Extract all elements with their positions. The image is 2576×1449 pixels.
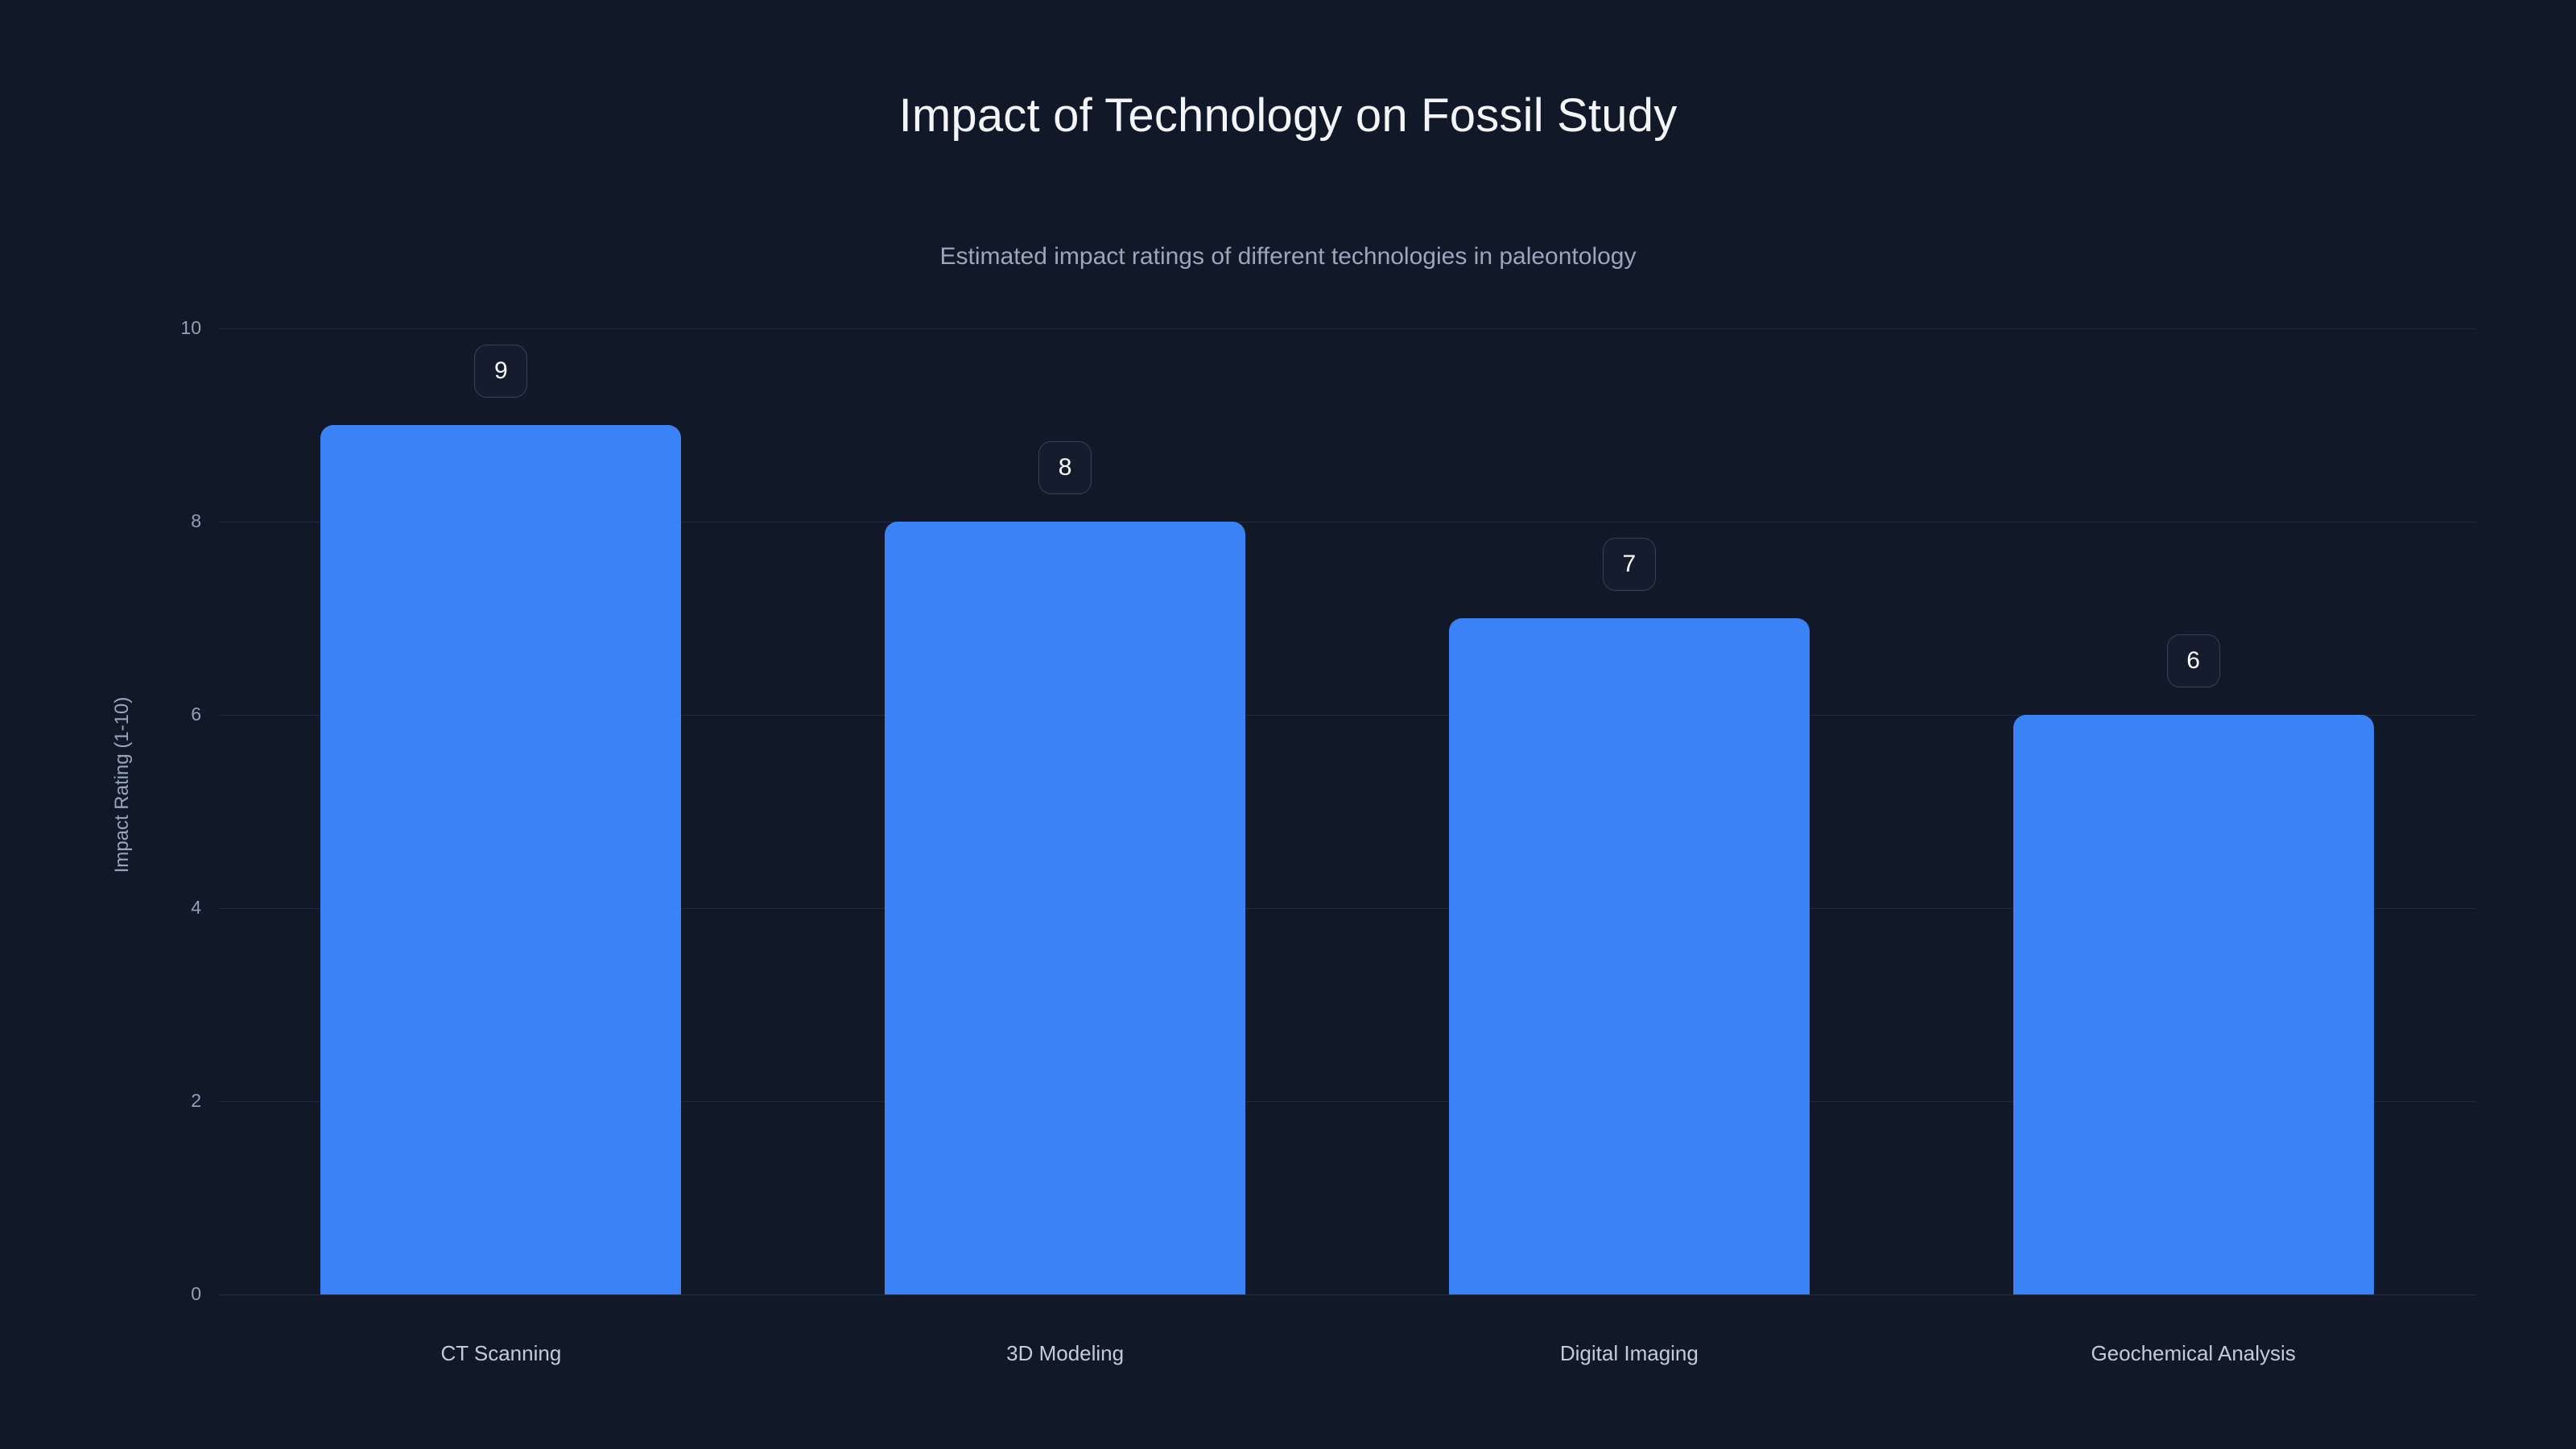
- x-axis-tick-label: Geochemical Analysis: [2091, 1341, 2295, 1366]
- y-axis-tick-label: 4: [153, 897, 201, 919]
- x-axis-tick-label: Digital Imaging: [1560, 1341, 1699, 1366]
- bar-ct-scanning[interactable]: [320, 425, 681, 1294]
- gridline: [219, 328, 2475, 329]
- y-axis-tick-label: 10: [153, 317, 201, 339]
- x-axis-line: [219, 1294, 2475, 1295]
- plot-area: [219, 328, 2475, 1294]
- bar-value-label: 8: [1038, 441, 1092, 494]
- y-axis-tick-label: 8: [153, 510, 201, 532]
- bar-value-label: 9: [474, 345, 527, 398]
- bar-3d-modeling[interactable]: [885, 522, 1245, 1294]
- y-axis-tick-label: 0: [153, 1283, 201, 1305]
- y-axis-tick-label: 2: [153, 1090, 201, 1112]
- x-axis-tick-label: 3D Modeling: [1006, 1341, 1124, 1366]
- y-axis-title: Impact Rating (1-10): [111, 697, 134, 873]
- bar-geochemical-analysis[interactable]: [2013, 715, 2374, 1294]
- page-title: Impact of Technology on Fossil Study: [0, 89, 2576, 142]
- x-axis-tick-label: CT Scanning: [440, 1341, 561, 1366]
- bar-digital-imaging[interactable]: [1449, 618, 1810, 1294]
- y-axis-tick-label: 6: [153, 704, 201, 725]
- bar-value-label: 6: [2167, 634, 2220, 687]
- chart-subtitle: Estimated impact ratings of different te…: [0, 243, 2576, 270]
- bar-value-label: 7: [1603, 538, 1656, 591]
